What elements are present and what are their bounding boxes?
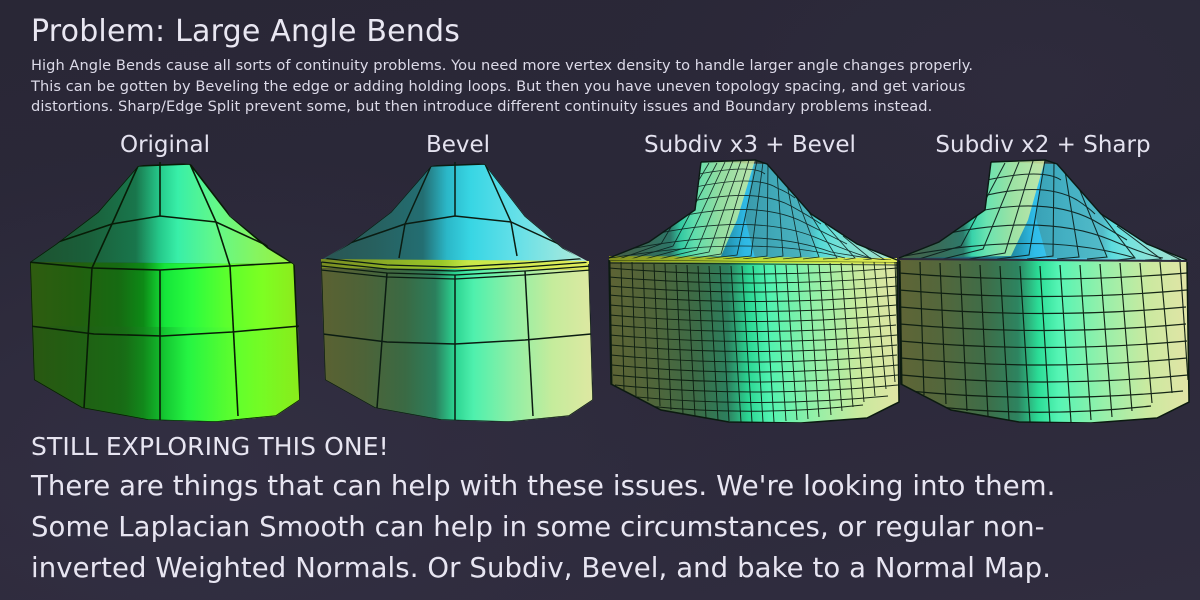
subtitle-paragraph: High Angle Bends cause all sorts of cont… — [31, 56, 1171, 118]
mesh-viewport-subdiv-x3-bevel — [605, 158, 901, 423]
subtitle-line: High Angle Bends cause all sorts of cont… — [31, 56, 1171, 77]
mesh-render-original — [20, 158, 310, 423]
footer-line: Some Laplacian Smooth can help in some c… — [31, 507, 1181, 548]
mesh-viewport-original — [20, 158, 310, 423]
slide-canvas: Problem: Large Angle Bends High Angle Be… — [0, 0, 1200, 600]
subtitle-line: This can be gotten by Beveling the edge … — [31, 77, 1171, 98]
footer-headline: STILL EXPLORING THIS ONE! — [31, 428, 1181, 466]
mesh-label-subdiv-x3-bevel: Subdiv x3 + Bevel — [600, 131, 900, 159]
mesh-render-bevel — [313, 158, 603, 423]
mesh-label-subdiv-x2-sharp: Subdiv x2 + Sharp — [893, 131, 1193, 159]
mesh-viewport-subdiv-x2-sharp — [895, 158, 1191, 423]
mesh-render-subdiv-x2-sharp — [895, 158, 1191, 423]
subtitle-line: distortions. Sharp/Edge Split prevent so… — [31, 97, 1171, 118]
mesh-label-original: Original — [20, 131, 310, 159]
footer-line: There are things that can help with thes… — [31, 466, 1181, 507]
mesh-render-subdiv-x3-bevel — [605, 158, 901, 423]
page-title: Problem: Large Angle Bends — [31, 15, 460, 49]
footer-line: inverted Weighted Normals. Or Subdiv, Be… — [31, 548, 1181, 589]
footer-notes: STILL EXPLORING THIS ONE! There are thin… — [31, 428, 1181, 589]
mesh-label-bevel: Bevel — [313, 131, 603, 159]
mesh-viewport-bevel — [313, 158, 603, 423]
